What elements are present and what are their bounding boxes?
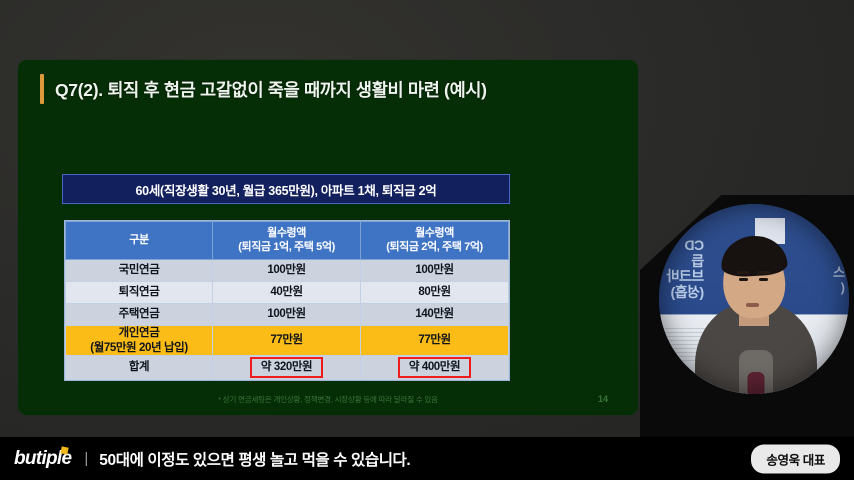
table-header-cell-0: 구분 — [66, 222, 213, 260]
table-header-row: 구분 월수령액 (퇴직금 1억, 주택 5억) 월수령액 (퇴직금 2억, 주택… — [66, 222, 509, 260]
table-row: 국민연금 100만원 100만원 — [66, 260, 509, 282]
screen: Q7(2). 퇴직 후 현금 고갈없이 죽을 때까지 생활비 마련 (예시) 6… — [0, 0, 854, 480]
emphasis-box-col1: 약 320만원 — [250, 357, 323, 378]
row-value-col1: 100만원 — [213, 260, 361, 282]
speaker-video-overlay: CD듭브크바(성흡) 스( — [659, 204, 849, 394]
row-label: 퇴직연금 — [66, 282, 213, 304]
assumption-banner: 60세(직장생활 30년, 월급 365만원), 아파트 1채, 퇴직금 2억 — [62, 174, 510, 204]
presentation-slide: Q7(2). 퇴직 후 현금 고갈없이 죽을 때까지 생활비 마련 (예시) 6… — [18, 60, 638, 415]
row-label: 국민연금 — [66, 260, 213, 282]
total-value-col1: 약 320만원 — [213, 356, 361, 380]
slide-footnote: * 상기 연금세팅은 개인상황, 정책변경, 시장상황 등에 따라 달라질 수 … — [18, 394, 638, 405]
bottom-caption-bar: butiple | 50대에 이정도 있으면 평생 놀고 먹을 수 있습니다. … — [0, 437, 854, 480]
row-value-col1: 100만원 — [213, 304, 361, 326]
table-row-highlighted: 개인연금 (월75만원 20년 납입) 77만원 77만원 — [66, 326, 509, 356]
row-label: 주택연금 — [66, 304, 213, 326]
page-title: Q7(2). 퇴직 후 현금 고갈없이 죽을 때까지 생활비 마련 (예시) — [55, 77, 487, 102]
slide-page-number: 14 — [598, 394, 608, 404]
row-value-col1: 77만원 — [213, 326, 361, 356]
row-value-col2: 80만원 — [361, 282, 509, 304]
row-value-col2: 140만원 — [361, 304, 509, 326]
row-label: 개인연금 (월75만원 20년 납입) — [66, 326, 213, 356]
assumption-text: 60세(직장생활 30년, 월급 365만원), 아파트 1채, 퇴직금 2억 — [136, 180, 437, 199]
speaker-name-badge: 송영욱 대표 — [751, 444, 840, 473]
row-value-col2: 100만원 — [361, 260, 509, 282]
total-value-col2: 약 400만원 — [361, 356, 509, 380]
row-value-col2: 77만원 — [361, 326, 509, 356]
slide-title-row: Q7(2). 퇴직 후 현금 고갈없이 죽을 때까지 생활비 마련 (예시) — [40, 74, 487, 104]
logo-accent-icon — [60, 446, 68, 454]
title-accent-bar — [40, 74, 44, 104]
pension-table: 구분 월수령액 (퇴직금 1억, 주택 5억) 월수령액 (퇴직금 2억, 주택… — [64, 220, 510, 381]
row-value-col1: 40만원 — [213, 282, 361, 304]
emphasis-box-col2: 약 400만원 — [398, 357, 471, 378]
table-header-cell-2: 월수령액 (퇴직금 2억, 주택 7억) — [361, 222, 509, 260]
table-row-total: 합계 약 320만원 약 400만원 — [66, 356, 509, 380]
table-header-cell-1: 월수령액 (퇴직금 1억, 주택 5억) — [213, 222, 361, 260]
table-row: 퇴직연금 40만원 80만원 — [66, 282, 509, 304]
row-label-line1: 개인연금 — [119, 327, 160, 339]
table-row: 주택연금 100만원 140만원 — [66, 304, 509, 326]
row-label-line2: (월75만원 20년 납입) — [90, 342, 188, 354]
speaker-vignette — [659, 204, 849, 394]
row-label: 합계 — [66, 356, 213, 380]
caption-text: 50대에 이정도 있으면 평생 놀고 먹을 수 있습니다. — [99, 448, 410, 470]
brand-logo: butiple — [14, 448, 71, 470]
separator: | — [84, 450, 88, 467]
